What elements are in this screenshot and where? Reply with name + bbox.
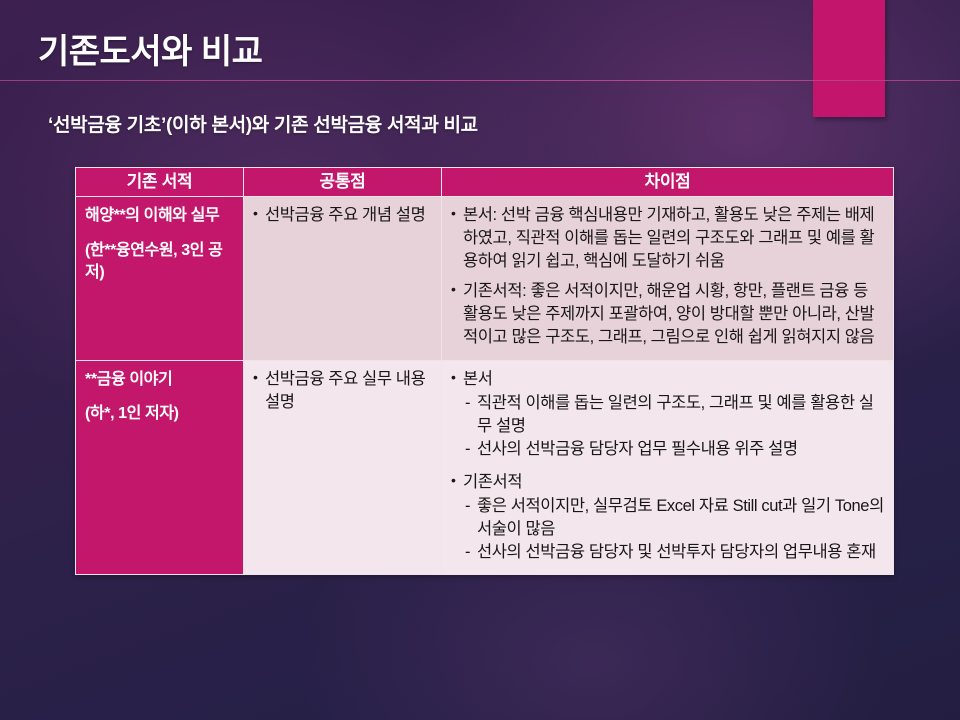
table-row: 해양**의 이해와 실무 (한**융연수원, 3인 공저) 선박금융 주요 개념…	[76, 197, 894, 361]
differences-cell: 본서 직관적 이해를 돕는 일련의 구조도, 그래프 및 예를 활용한 실무 설…	[442, 360, 894, 575]
column-header-common-points: 공통점	[244, 168, 442, 197]
sub-list-item: 직관적 이해를 돕는 일련의 구조도, 그래프 및 예를 활용한 실무 설명	[463, 392, 885, 438]
slide-canvas: 기존도서와 비교 ‘선박금융 기초’(이하 본서)와 기존 선박금융 서적과 비…	[0, 0, 960, 720]
list-item: 선박금융 주요 실무 내용 설명	[252, 368, 433, 414]
column-header-existing-books: 기존 서적	[76, 168, 244, 197]
book-identity-cell: 해양**의 이해와 실무 (한**융연수원, 3인 공저)	[76, 197, 244, 361]
page-title: 기존도서와 비교	[38, 24, 262, 73]
list-item: 기존서적 좋은 서적이지만, 실무검토 Excel 자료 Still cut과 …	[450, 471, 885, 564]
title-divider-line	[0, 80, 960, 81]
table-header-row: 기존 서적 공통점 차이점	[76, 168, 894, 197]
common-points-cell: 선박금융 주요 개념 설명	[244, 197, 442, 361]
list-item: 본서: 선박 금융 핵심내용만 기재하고, 활용도 낮은 주제는 배제하였고, …	[450, 204, 885, 273]
book-identity-cell: **금융 이야기 (하*, 1인 저자)	[76, 360, 244, 575]
sub-list-item: 선사의 선박금융 담당자 및 선박투자 담당자의 업무내용 혼재	[463, 541, 885, 564]
list-item: 기존서적: 좋은 서적이지만, 해운업 시황, 항만, 플랜트 금융 등 활용도…	[450, 280, 885, 349]
differences-cell: 본서: 선박 금융 핵심내용만 기재하고, 활용도 낮은 주제는 배제하였고, …	[442, 197, 894, 361]
list-item-lead: 본서	[463, 370, 493, 388]
list-item-lead: 기존서적	[463, 473, 522, 491]
book-author: (한**융연수원, 3인 공저)	[85, 240, 234, 285]
book-title: 해양**의 이해와 실무	[85, 207, 219, 224]
comparison-table: 기존 서적 공통점 차이점 해양**의 이해와 실무 (한**융연수원, 3인 …	[75, 167, 894, 575]
column-header-differences: 차이점	[442, 168, 894, 197]
table-row: **금융 이야기 (하*, 1인 저자) 선박금융 주요 실무 내용 설명 본서…	[76, 360, 894, 575]
book-title: **금융 이야기	[85, 371, 172, 388]
accent-rectangle	[813, 0, 885, 117]
book-author: (하*, 1인 저자)	[85, 403, 234, 426]
list-item: 선박금융 주요 개념 설명	[252, 204, 433, 227]
page-subtitle: ‘선박금융 기초’(이하 본서)와 기존 선박금융 서적과 비교	[48, 110, 478, 137]
list-item: 본서 직관적 이해를 돕는 일련의 구조도, 그래프 및 예를 활용한 실무 설…	[450, 368, 885, 461]
sub-list-item: 선사의 선박금융 담당자 업무 필수내용 위주 설명	[463, 438, 885, 461]
common-points-cell: 선박금융 주요 실무 내용 설명	[244, 360, 442, 575]
sub-list-item: 좋은 서적이지만, 실무검토 Excel 자료 Still cut과 일기 To…	[463, 495, 885, 541]
